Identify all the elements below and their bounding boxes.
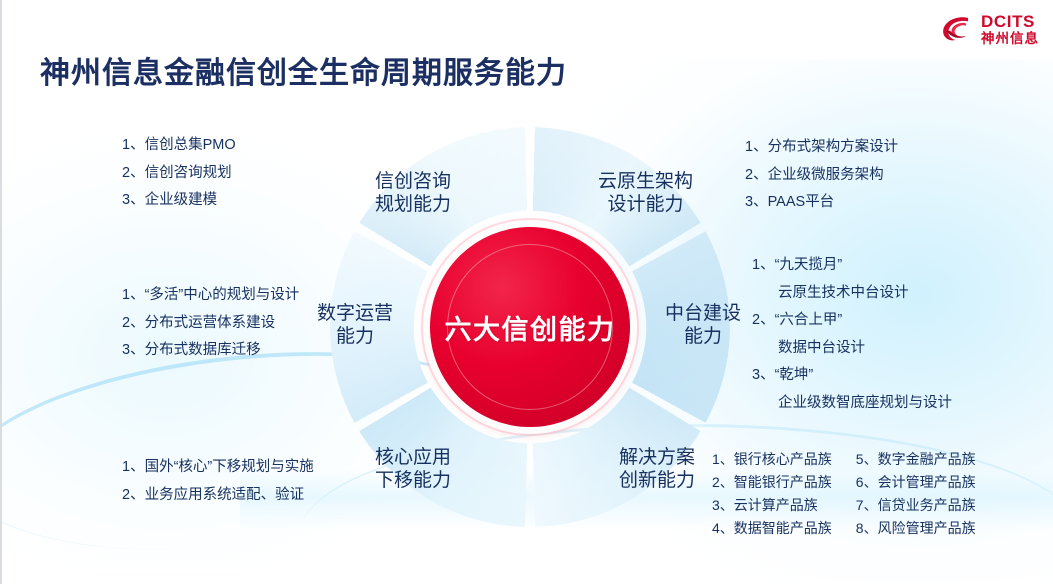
list-item-label: “六合上甲” [775, 313, 843, 328]
list-item-label: PAAS平台 [768, 195, 835, 210]
list-item-label: 信贷业务产品族 [878, 498, 976, 512]
callout-bottom-right-column-2: 5、 数字金融产品族 6、 会计管理产品族 7、 信贷业务产品族 8、 风险管理… [856, 452, 976, 535]
list-item-number: 2、 [122, 316, 145, 331]
page-title: 神州信息金融信创全生命周期服务能力 [40, 48, 567, 92]
list-item-label: 分布式数据库迁移 [145, 343, 261, 358]
list-item: 2、 信创咨询规划 [122, 166, 236, 181]
list-item-number: 3、 [712, 498, 734, 512]
list-item-label: “九天揽月” [775, 258, 843, 273]
list-item-number: 2、 [745, 168, 768, 183]
logo-text-cn: 神州信息 [981, 32, 1039, 46]
list-item-number: 2、 [712, 475, 734, 489]
list-item-subtext: 云原生技术中台设计 [778, 286, 952, 301]
list-item-number: 7、 [856, 498, 878, 512]
callout-bottom-right-column-1: 1、 银行核心产品族 2、 智能银行产品族 3、 云计算产品族 4、 数据智能产… [712, 452, 832, 535]
list-item: 2、 企业级微服务架构 [745, 168, 898, 183]
list-item: 5、 数字金融产品族 [856, 452, 976, 466]
list-item-subtext: 企业级数智底座规划与设计 [778, 396, 952, 411]
list-item: 3、 PAAS平台 [745, 195, 898, 210]
list-item: 3、 企业级建模 [122, 193, 236, 208]
list-item-number: 3、 [122, 193, 145, 208]
list-item-number: 1、 [712, 452, 734, 466]
list-item: 6、 会计管理产品族 [856, 475, 976, 489]
list-item-number: 1、 [745, 140, 768, 155]
donut-center-circle: 六大信创能力 [430, 227, 630, 427]
list-item: 1、 分布式架构方案设计 [745, 140, 898, 155]
list-item: 1、 “九天揽月” [752, 258, 952, 273]
list-item-number: 3、 [122, 343, 145, 358]
dcits-swoosh-icon [940, 12, 974, 46]
list-item: 2、 智能银行产品族 [712, 475, 832, 489]
donut-label-midplatform: 中台建设 能力 [665, 302, 741, 348]
list-item: 2、 分布式运营体系建设 [122, 316, 299, 331]
list-item: 3、 云计算产品族 [712, 498, 832, 512]
callout-middle-right: 1、 “九天揽月” 云原生技术中台设计 2、 “六合上甲” 数据中台设计 3、 … [752, 258, 952, 423]
list-item: 8、 风险管理产品族 [856, 521, 976, 535]
list-item-number: 2、 [122, 488, 145, 503]
six-capabilities-donut-chart: 六大信创能力 信创咨询 规划能力 云原生架构 设计能力 中台建设 能力 解决方案… [325, 122, 735, 532]
list-item-label: 企业级建模 [145, 193, 218, 208]
list-item: 1、 “多活”中心的规划与设计 [122, 288, 299, 303]
list-item-label: 智能银行产品族 [734, 475, 832, 489]
list-item-number: 8、 [856, 521, 878, 535]
slide-left-border [0, 0, 2, 584]
list-item-number: 1、 [122, 288, 145, 303]
list-item-label: 云计算产品族 [734, 498, 818, 512]
callout-bottom-right: 1、 银行核心产品族 2、 智能银行产品族 3、 云计算产品族 4、 数据智能产… [712, 452, 976, 535]
donut-center-label: 六大信创能力 [445, 308, 616, 347]
list-item-label: 数字金融产品族 [878, 452, 976, 466]
callout-top-right: 1、 分布式架构方案设计 2、 企业级微服务架构 3、 PAAS平台 [745, 140, 898, 210]
list-item-subtext: 数据中台设计 [778, 341, 952, 356]
list-item: 3、 “乾坤” [752, 368, 952, 383]
donut-label-core-app: 核心应用 下移能力 [375, 446, 451, 492]
list-item-label: 数据智能产品族 [734, 521, 832, 535]
list-item-label: 银行核心产品族 [734, 452, 832, 466]
list-item-number: 5、 [856, 452, 878, 466]
dcits-logo: DCITS 神州信息 [940, 12, 1039, 46]
donut-label-consulting: 信创咨询 规划能力 [375, 170, 451, 216]
logo-text: DCITS 神州信息 [981, 13, 1039, 46]
list-item-label: 风险管理产品族 [878, 521, 976, 535]
list-item: 1、 信创总集PMO [122, 138, 236, 153]
list-item-number: 1、 [752, 258, 775, 273]
list-item-label: 分布式运营体系建设 [145, 316, 276, 331]
list-item: 2、 “六合上甲” [752, 313, 952, 328]
list-item-label: 企业级微服务架构 [768, 168, 884, 183]
list-item-number: 6、 [856, 475, 878, 489]
list-item-label: 业务应用系统适配、验证 [145, 488, 305, 503]
list-item-label: 分布式架构方案设计 [768, 140, 899, 155]
donut-label-cloud-native: 云原生架构 设计能力 [598, 170, 693, 216]
list-item: 1、 国外“核心”下移规划与实施 [122, 460, 314, 475]
list-item: 1、 银行核心产品族 [712, 452, 832, 466]
list-item-number: 2、 [122, 166, 145, 181]
list-item-label: “乾坤” [775, 368, 814, 383]
list-item-number: 3、 [745, 195, 768, 210]
list-item-number: 2、 [752, 313, 775, 328]
list-item-label: 信创总集PMO [145, 138, 236, 153]
callout-bottom-left: 1、 国外“核心”下移规划与实施 2、 业务应用系统适配、验证 [122, 460, 314, 502]
donut-label-solution: 解决方案 创新能力 [619, 446, 695, 492]
list-item-label: 国外“核心”下移规划与实施 [145, 460, 314, 475]
list-item-label: “多活”中心的规划与设计 [145, 288, 300, 303]
list-item-number: 3、 [752, 368, 775, 383]
donut-label-digital-ops: 数字运营 能力 [317, 302, 393, 348]
callout-top-left: 1、 信创总集PMO 2、 信创咨询规划 3、 企业级建模 [122, 138, 236, 208]
list-item-number: 1、 [122, 138, 145, 153]
list-item: 2、 业务应用系统适配、验证 [122, 488, 314, 503]
list-item: 7、 信贷业务产品族 [856, 498, 976, 512]
list-item-label: 会计管理产品族 [878, 475, 976, 489]
list-item-number: 4、 [712, 521, 734, 535]
list-item-number: 1、 [122, 460, 145, 475]
list-item: 4、 数据智能产品族 [712, 521, 832, 535]
logo-text-en: DCITS [981, 13, 1039, 30]
callout-middle-left: 1、 “多活”中心的规划与设计 2、 分布式运营体系建设 3、 分布式数据库迁移 [122, 288, 299, 358]
list-item: 3、 分布式数据库迁移 [122, 343, 299, 358]
list-item-label: 信创咨询规划 [145, 166, 232, 181]
